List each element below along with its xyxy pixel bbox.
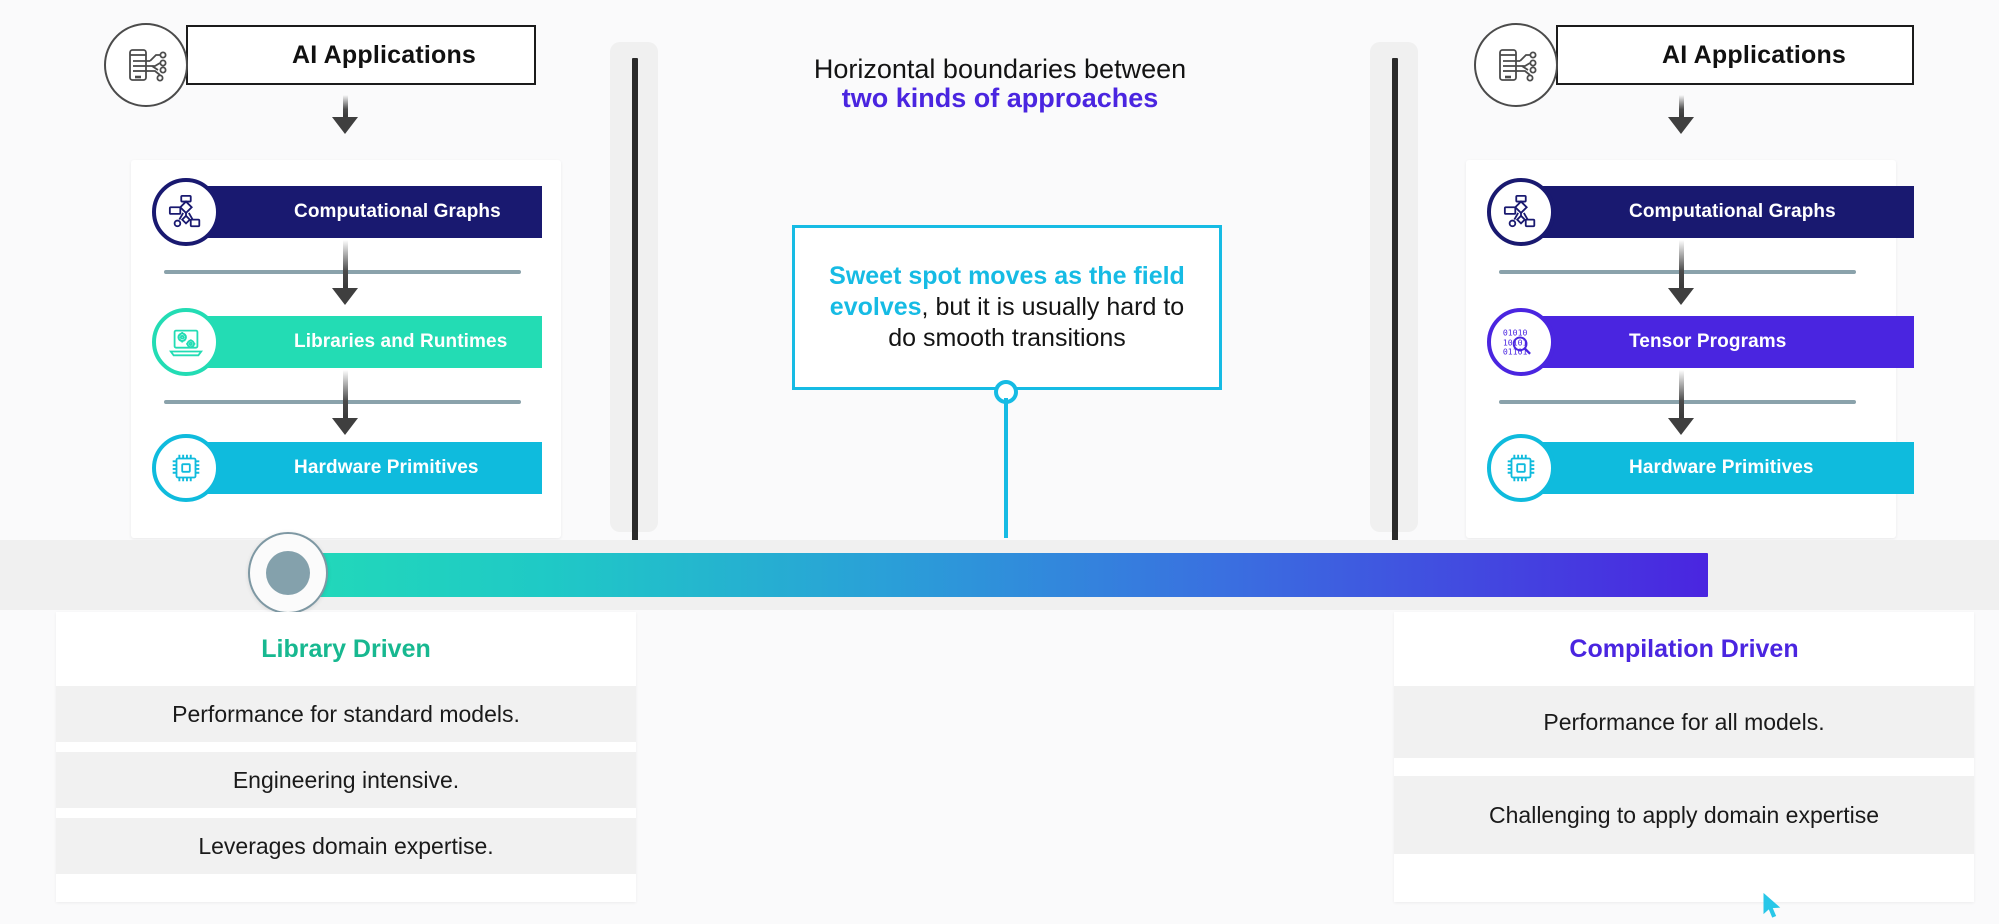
sweet-spot-gradient-bar[interactable] xyxy=(296,553,1708,597)
center-heading: Horizontal boundaries between two kinds … xyxy=(700,55,1300,113)
computational-graph-icon xyxy=(1487,178,1555,246)
left-row-libraries-runtimes[interactable]: Libraries and Runtimes xyxy=(152,316,542,368)
left-row-1-bar: Computational Graphs xyxy=(204,186,542,238)
hardware-chip-icon xyxy=(152,434,220,502)
left-arrow-2 xyxy=(332,370,358,435)
right-arrow-to-stack xyxy=(1668,95,1694,134)
right-row-1-label: Computational Graphs xyxy=(1629,201,1836,223)
table-row: Performance for standard models. xyxy=(56,686,636,742)
compilation-driven-table: Compilation Driven Performance for all m… xyxy=(1394,612,1974,902)
ai-applications-icon xyxy=(1474,23,1558,107)
center-heading-line1: Horizontal boundaries between xyxy=(700,55,1300,84)
left-arrow-to-stack xyxy=(332,95,358,134)
right-row-computational-graphs[interactable]: Computational Graphs xyxy=(1487,186,1877,238)
table-row: Engineering intensive. xyxy=(56,752,636,808)
table-row: Performance for all models. xyxy=(1394,686,1974,758)
right-row-tensor-programs[interactable]: Tensor Programs 01010 10101 01101 xyxy=(1487,316,1877,368)
left-header-label: AI Applications xyxy=(292,41,476,70)
right-row-2-label: Tensor Programs xyxy=(1629,331,1786,353)
left-header-group: AI Applications xyxy=(104,25,544,89)
library-driven-title: Library Driven xyxy=(56,612,636,686)
left-row-2-label: Libraries and Runtimes xyxy=(294,331,507,353)
libraries-runtimes-icon xyxy=(152,308,220,376)
sweet-spot-callout: Sweet spot moves as the field evolves, b… xyxy=(792,225,1222,390)
left-arrow-1 xyxy=(332,240,358,305)
right-arrow-2 xyxy=(1668,370,1694,435)
boundary-divider-right xyxy=(1392,58,1398,578)
table-gap xyxy=(1394,854,1974,880)
left-header-box[interactable]: AI Applications xyxy=(186,25,536,85)
callout-rest: , but it is usually hard to do smooth tr… xyxy=(888,293,1184,352)
library-driven-table: Library Driven Performance for standard … xyxy=(56,612,636,902)
table-gap xyxy=(56,742,636,752)
mouse-cursor xyxy=(1762,893,1782,924)
slide-canvas: AI Applications Computational Graphs xyxy=(0,0,1999,915)
right-header-box[interactable]: AI Applications xyxy=(1556,25,1914,85)
center-heading-line2: two kinds of approaches xyxy=(700,84,1300,113)
ai-applications-icon xyxy=(104,23,188,107)
boundary-divider-left xyxy=(632,58,638,578)
right-arrow-1 xyxy=(1668,240,1694,305)
hardware-chip-icon xyxy=(1487,434,1555,502)
sweet-spot-slider-knob[interactable] xyxy=(248,532,328,614)
left-row-3-bar: Hardware Primitives xyxy=(204,442,542,494)
table-row: Leverages domain expertise. xyxy=(56,818,636,874)
table-row: Challenging to apply domain expertise xyxy=(1394,776,1974,854)
tensor-binary-icon: 01010 10101 01101 xyxy=(1487,308,1555,376)
right-row-2-bar: Tensor Programs xyxy=(1539,316,1914,368)
right-row-3-label: Hardware Primitives xyxy=(1629,457,1814,479)
table-gap xyxy=(56,874,636,896)
left-row-3-label: Hardware Primitives xyxy=(294,457,479,479)
right-header-label: AI Applications xyxy=(1662,41,1846,70)
svg-text:01010: 01010 xyxy=(1503,328,1528,338)
left-row-2-bar: Libraries and Runtimes xyxy=(204,316,542,368)
table-gap xyxy=(1394,758,1974,776)
callout-connector-line xyxy=(1004,398,1008,538)
compilation-driven-title: Compilation Driven xyxy=(1394,612,1974,686)
right-row-hardware-primitives[interactable]: Hardware Primitives xyxy=(1487,442,1877,494)
right-header-group: AI Applications xyxy=(1474,25,1924,89)
left-row-computational-graphs[interactable]: Computational Graphs xyxy=(152,186,542,238)
table-gap xyxy=(56,808,636,818)
right-row-1-bar: Computational Graphs xyxy=(1539,186,1914,238)
computational-graph-icon xyxy=(152,178,220,246)
left-row-1-label: Computational Graphs xyxy=(294,201,501,223)
left-row-hardware-primitives[interactable]: Hardware Primitives xyxy=(152,442,542,494)
right-row-3-bar: Hardware Primitives xyxy=(1539,442,1914,494)
